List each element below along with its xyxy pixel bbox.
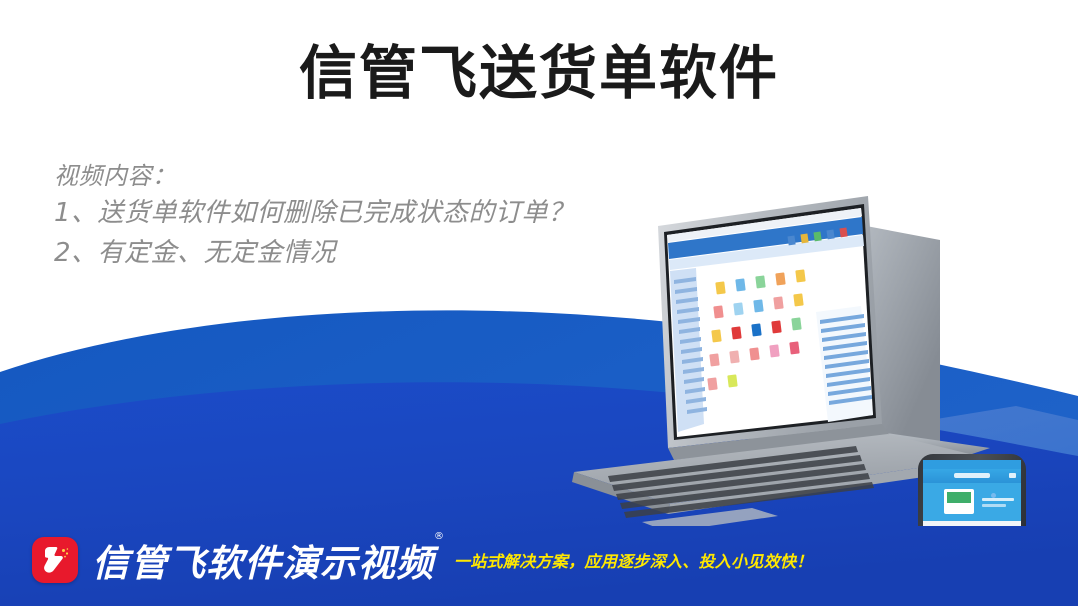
content-lead-label: 视频内容：: [54, 158, 575, 194]
bird-flame-logo-icon: [32, 537, 78, 583]
device-photo-group: [520, 196, 1078, 526]
page-title: 信管飞送货单软件: [0, 42, 1078, 106]
bottom-brand-banner: 信管飞软件演示视频 ® 一站式解决方案，应用逐步深入、投入小见效快！: [0, 514, 1078, 606]
brand-tagline: 一站式解决方案，应用逐步深入、投入小见效快！: [454, 548, 813, 572]
registered-trademark-icon: ®: [434, 531, 445, 542]
brand-name: 信管飞软件演示视频 ®: [92, 533, 434, 587]
brand-name-text: 信管飞软件演示视频: [92, 542, 434, 585]
presentation-slide: 信管飞送货单软件 视频内容： 1、送货单软件如何删除已完成状态的订单？ 2、有定…: [0, 0, 1078, 606]
content-item-2: 2、有定金、无定金情况: [54, 234, 575, 274]
content-item-1: 1、送货单软件如何删除已完成状态的订单？: [54, 194, 575, 234]
video-content-list: 视频内容： 1、送货单软件如何删除已完成状态的订单？ 2、有定金、无定金情况: [54, 158, 575, 274]
laptop-screen-content: [667, 208, 873, 437]
decorative-dot: [991, 493, 996, 498]
